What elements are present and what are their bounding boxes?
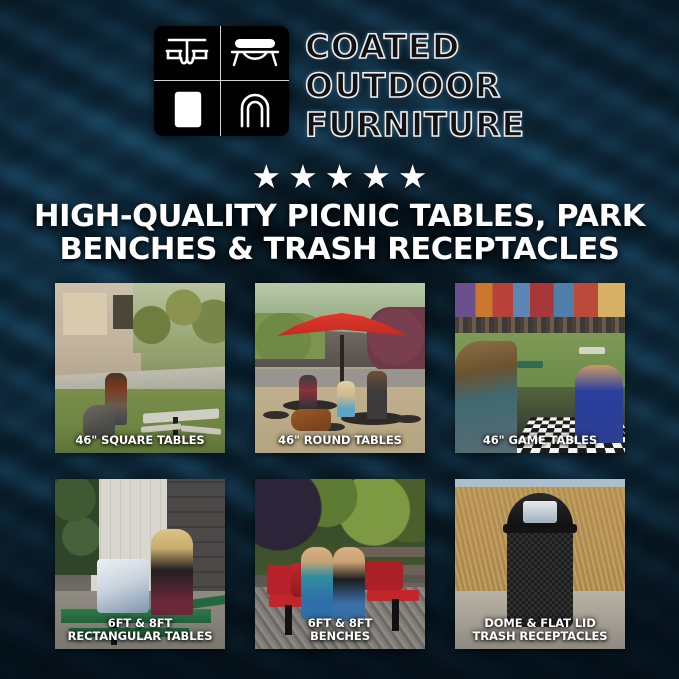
wordmark-line-furniture: FURNITURE xyxy=(305,105,525,144)
product-caption-line-2: RECTANGULAR TABLES xyxy=(59,630,221,643)
product-caption: 6FT & 8FT BENCHES xyxy=(259,617,421,643)
product-caption: 6FT & 8FT RECTANGULAR TABLES xyxy=(59,617,221,643)
product-caption-line-1: 46" SQUARE TABLES xyxy=(59,434,221,447)
brand-logo: COATED OUTDOOR FURNITURE xyxy=(0,26,679,144)
product-tile-rectangular-tables[interactable]: 6FT & 8FT RECTANGULAR TABLES xyxy=(55,479,225,649)
bench-icon xyxy=(221,26,289,81)
wordmark-line-coated: COATED xyxy=(305,27,461,66)
product-tile-trash-receptacles[interactable]: DOME & FLAT LID TRASH RECEPTACLES xyxy=(455,479,625,649)
headline-line-1: HIGH-QUALITY PICNIC TABLES, PARK xyxy=(34,200,645,233)
page-title: HIGH-QUALITY PICNIC TABLES, PARK BENCHES… xyxy=(34,200,645,266)
product-caption: 46" ROUND TABLES xyxy=(259,434,421,447)
product-caption-line-2: TRASH RECEPTACLES xyxy=(459,630,621,643)
product-caption-line-1: 46" ROUND TABLES xyxy=(259,434,421,447)
logo-icon-grid xyxy=(154,26,289,136)
star-icon: ★ xyxy=(398,160,428,193)
promo-banner: COATED OUTDOOR FURNITURE ★ ★ ★ ★ ★ HIGH-… xyxy=(0,0,679,679)
product-caption: 46" SQUARE TABLES xyxy=(59,434,221,447)
brand-wordmark: COATED OUTDOOR FURNITURE xyxy=(305,26,525,144)
product-photo-square-tables xyxy=(55,283,225,453)
star-rating: ★ ★ ★ ★ ★ xyxy=(0,160,679,193)
product-grid: 46" SQUARE TABLES 46" ROUND TABLES xyxy=(55,283,625,649)
star-icon: ★ xyxy=(325,160,355,193)
wordmark-line-outdoor: OUTDOOR xyxy=(305,66,502,105)
headline-line-2: BENCHES & TRASH RECEPTACLES xyxy=(34,233,645,266)
product-tile-round-tables[interactable]: 46" ROUND TABLES xyxy=(255,283,425,453)
trash-receptacle-icon xyxy=(154,81,222,136)
product-caption-line-2: BENCHES xyxy=(259,630,421,643)
star-icon: ★ xyxy=(361,160,391,193)
product-caption: DOME & FLAT LID TRASH RECEPTACLES xyxy=(459,617,621,643)
star-icon: ★ xyxy=(252,160,282,193)
bike-rack-icon xyxy=(221,81,289,136)
star-icon: ★ xyxy=(288,160,318,193)
product-caption-line-1: 46" GAME TABLES xyxy=(459,434,621,447)
product-tile-game-tables[interactable]: 46" GAME TABLES xyxy=(455,283,625,453)
product-tile-benches[interactable]: 6FT & 8FT BENCHES xyxy=(255,479,425,649)
product-caption: 46" GAME TABLES xyxy=(459,434,621,447)
product-photo-game-tables xyxy=(455,283,625,453)
product-tile-square-tables[interactable]: 46" SQUARE TABLES xyxy=(55,283,225,453)
product-photo-round-tables xyxy=(255,283,425,453)
picnic-table-icon xyxy=(154,26,222,81)
